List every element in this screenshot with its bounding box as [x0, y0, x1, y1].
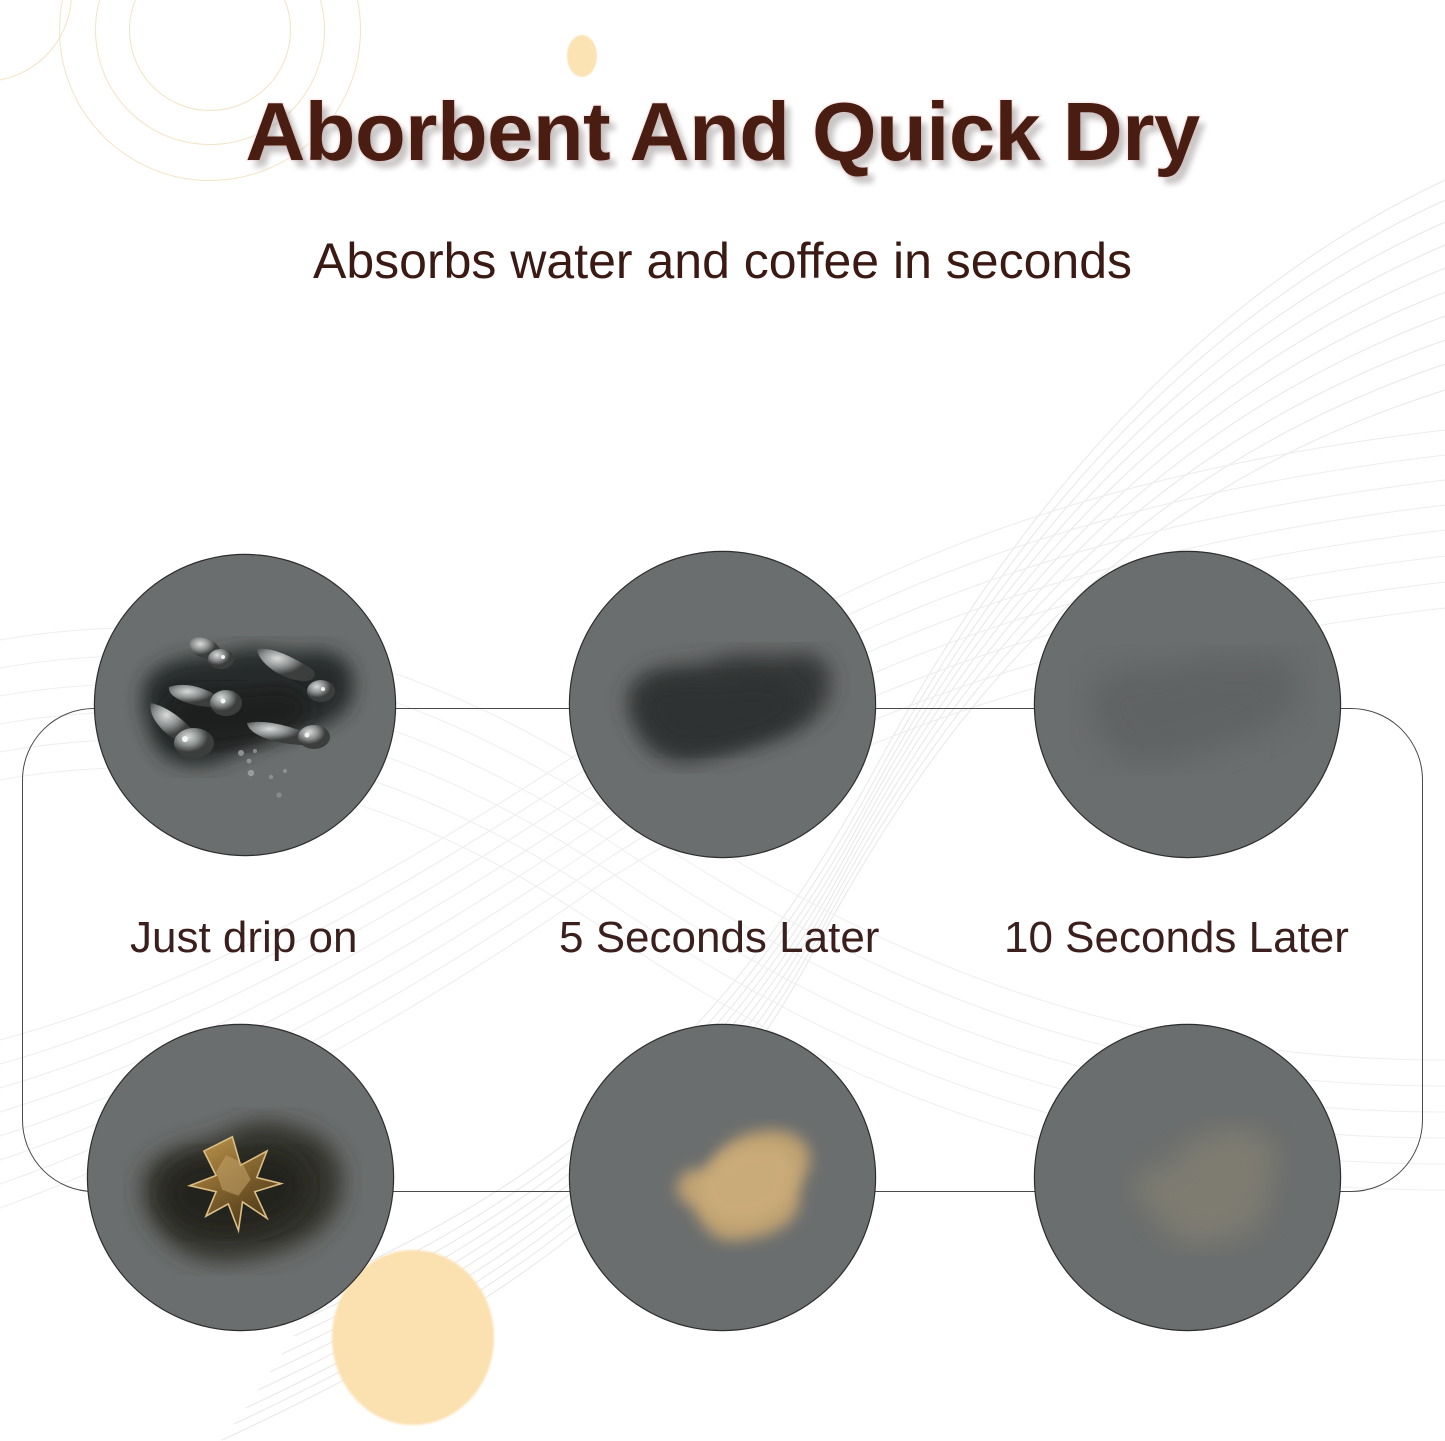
page-subtitle: Absorbs water and coffee in seconds — [0, 232, 1445, 290]
sample-water-5-seconds — [570, 552, 875, 857]
coffee-dry-graphic — [1035, 1025, 1340, 1330]
sample-coffee-5-seconds — [570, 1025, 875, 1330]
water-absorbed-graphic — [570, 552, 875, 857]
caption-10-seconds-later: 10 Seconds Later — [1004, 913, 1349, 963]
decorative-dot-small — [567, 35, 597, 77]
caption-just-drip-on: Just drip on — [130, 913, 357, 963]
decorative-ring-corner — [0, 0, 72, 82]
sample-water-just-drip — [95, 555, 395, 855]
coffee-absorbed-graphic — [570, 1025, 875, 1330]
coffee-splash-graphic — [88, 1025, 393, 1330]
promo-banner: Aborbent And Quick Dry Absorbs water and… — [0, 0, 1445, 1441]
water-dry-graphic — [1035, 552, 1340, 857]
sample-coffee-just-drip — [88, 1025, 393, 1330]
sample-coffee-10-seconds — [1035, 1025, 1340, 1330]
page-title: Aborbent And Quick Dry — [0, 84, 1445, 180]
sample-water-10-seconds — [1035, 552, 1340, 857]
caption-5-seconds-later: 5 Seconds Later — [559, 913, 879, 963]
water-droplets-graphic — [95, 555, 395, 855]
